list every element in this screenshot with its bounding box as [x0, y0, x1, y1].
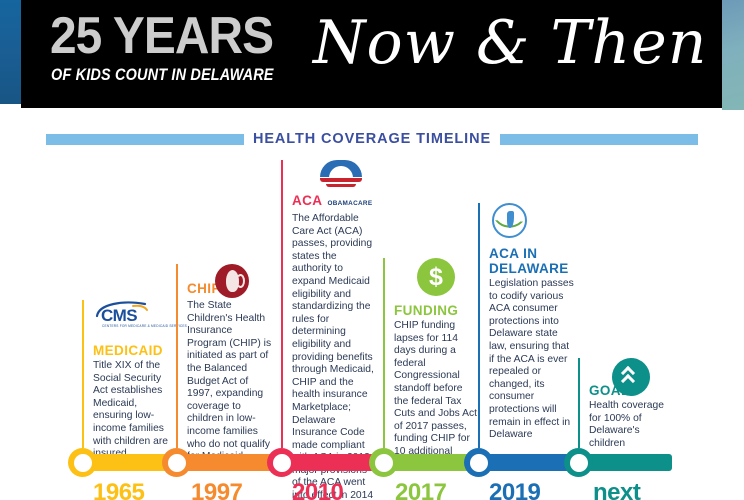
column-rule — [578, 358, 580, 448]
delaware-logo — [489, 203, 574, 243]
section-title: HEALTH COVERAGE TIMELINE — [253, 131, 491, 147]
section-bar-right — [500, 134, 698, 145]
goals-logo — [589, 358, 674, 400]
column-rule — [82, 300, 84, 448]
timeline-node-2019[interactable] — [464, 448, 493, 477]
aca-stripe-icon — [320, 178, 362, 182]
left-edge-stripe — [0, 0, 23, 104]
section-bar-left — [46, 134, 244, 145]
timeline-node-next[interactable] — [564, 448, 593, 477]
header-banner: 25 YEARS OF KIDS COUNT IN DELAWARE Now &… — [0, 0, 744, 108]
delaware-state-icon — [507, 211, 514, 228]
chip-logo — [187, 264, 272, 300]
timeline-year-1965: 1965 — [93, 480, 144, 500]
cms-wordmark: CMS — [101, 307, 137, 324]
script-title-now-and-then: Now & Then — [313, 4, 707, 82]
timeline-column-goals: GOALS Health coverage for 100% of Delawa… — [578, 358, 674, 448]
timeline-node-2017[interactable] — [369, 448, 398, 477]
obamacare-wordmark: OBAMACARE — [327, 200, 372, 207]
timeline-column-funding: $ FUNDING CHIP funding lapses for 114 da… — [383, 258, 479, 448]
timeline-year-2019: 2019 — [489, 480, 540, 500]
page-title-years: 25 YEARS — [50, 10, 273, 62]
timeline-year-1997: 1997 — [191, 480, 242, 500]
timeline-node-2010[interactable] — [267, 448, 296, 477]
column-rule — [478, 203, 480, 448]
column-heading: ACA IN DELAWARE — [489, 246, 574, 276]
page-subtitle: OF KIDS COUNT IN DELAWARE — [51, 66, 274, 83]
timeline-column-chip: CHIP The State Children's Health Insuran… — [176, 264, 272, 448]
aca-stripe2-icon — [326, 184, 356, 188]
black-banner: 25 YEARS OF KIDS COUNT IN DELAWARE Now &… — [21, 0, 723, 108]
section-title-row: HEALTH COVERAGE TIMELINE — [0, 130, 744, 148]
dollar-sign-icon: $ — [417, 258, 455, 296]
column-body: Legislation passes to codify various ACA… — [489, 278, 574, 442]
column-heading: ACA — [292, 193, 322, 208]
timeline-year-2017: 2017 — [395, 480, 446, 500]
timeline-year-2010: 2010 — [292, 480, 343, 500]
column-heading: MEDICAID — [93, 343, 178, 358]
column-rule — [383, 258, 385, 448]
right-edge-stripe — [722, 0, 744, 110]
funding-logo: $ — [394, 258, 479, 300]
column-body: Health coverage for 100% of Delaware's c… — [589, 400, 674, 450]
cms-subtext: CENTERS FOR MEDICARE & MEDICAID SERVICES — [102, 324, 187, 328]
timeline-node-1997[interactable] — [162, 448, 191, 477]
column-rule — [176, 264, 178, 448]
timeline-axis: 1965 1997 2010 2017 2019 next — [0, 446, 744, 500]
obamacare-logo — [292, 160, 377, 194]
chip-arc-icon — [236, 274, 245, 288]
timeline-column-medicaid: CMS CENTERS FOR MEDICARE & MEDICAID SERV… — [82, 300, 178, 448]
timeline-node-1965[interactable] — [68, 448, 97, 477]
column-heading: FUNDING — [394, 303, 479, 318]
column-rule — [281, 160, 283, 448]
timeline-column-aca: ACA OBAMACARE The Affordable Care Act (A… — [281, 160, 377, 448]
timeline-column-aca-in-delaware: ACA IN DELAWARE Legislation passes to co… — [478, 203, 574, 448]
infographic-page: 25 YEARS OF KIDS COUNT IN DELAWARE Now &… — [0, 0, 744, 500]
cms-logo: CMS CENTERS FOR MEDICARE & MEDICAID SERV… — [93, 300, 178, 340]
timeline-year-next: next — [593, 480, 640, 500]
column-body: The State Children's Health Insurance Pr… — [187, 300, 272, 464]
